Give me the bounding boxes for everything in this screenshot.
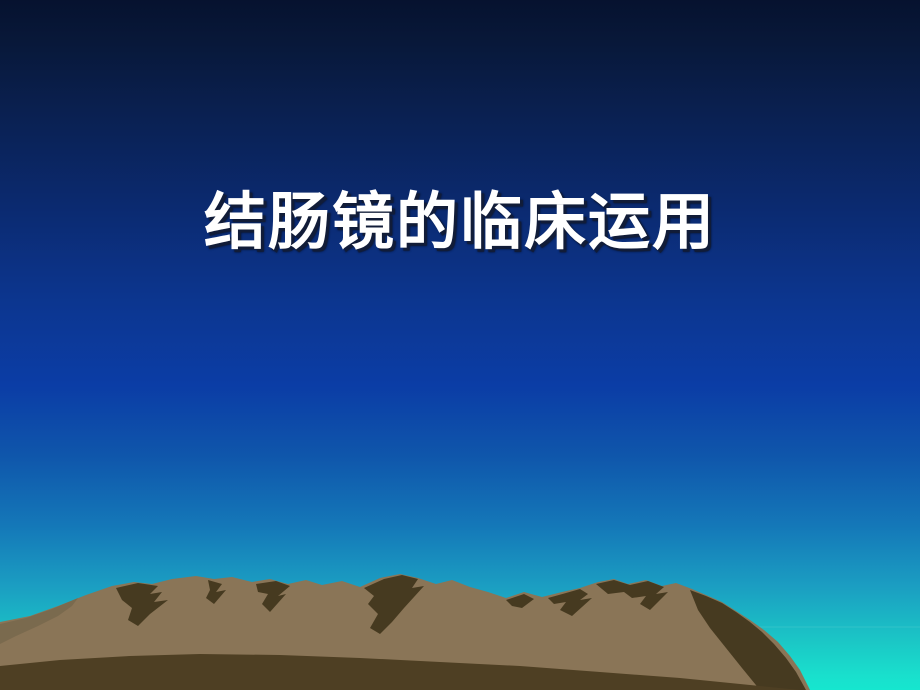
mountain-range-graphic	[0, 570, 920, 690]
presentation-slide: 结肠镜的临床运用	[0, 0, 920, 690]
